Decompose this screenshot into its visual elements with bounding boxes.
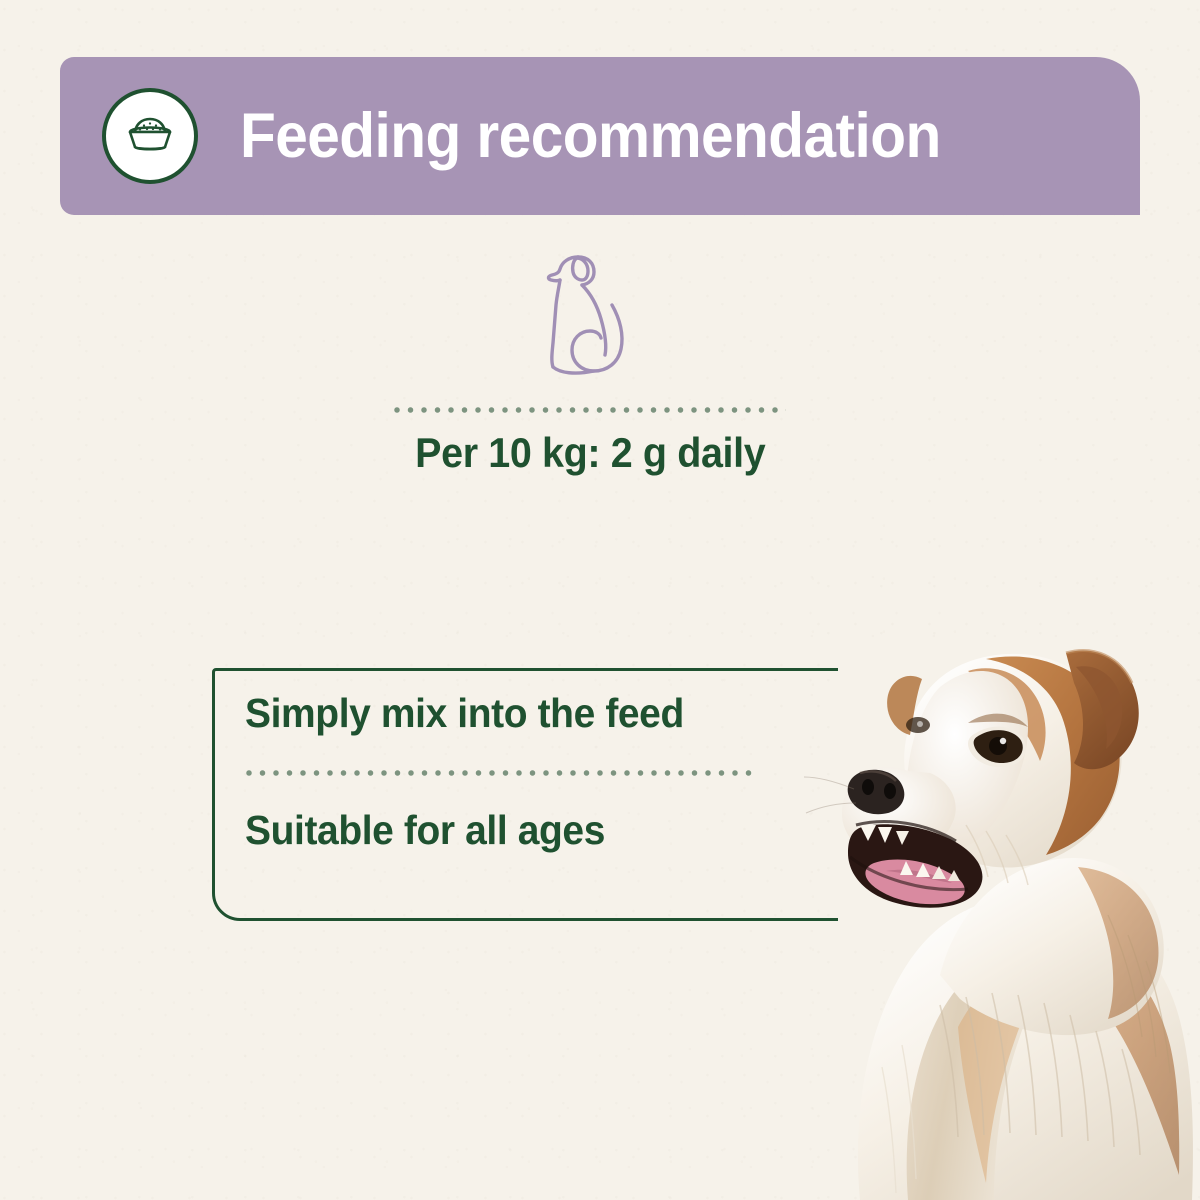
food-bowl-icon: [102, 88, 198, 184]
dosage-text: Per 10 kg: 2 g daily: [415, 429, 765, 477]
dosage-divider: [394, 407, 786, 413]
feeding-recommendation-panel: Feeding recommendation Per 10 kg: 2 g da…: [0, 0, 1200, 1200]
dog-photo: [790, 575, 1200, 1200]
dosage-block: Per 10 kg: 2 g daily: [0, 243, 1180, 477]
page-title: Feeding recommendation: [240, 105, 941, 168]
header-bar: Feeding recommendation: [60, 57, 1140, 215]
info-line-ages: Suitable for all ages: [245, 807, 605, 854]
info-line-mix: Simply mix into the feed: [245, 690, 684, 737]
info-box-divider: [246, 770, 758, 776]
dog-silhouette-icon: [515, 243, 665, 393]
